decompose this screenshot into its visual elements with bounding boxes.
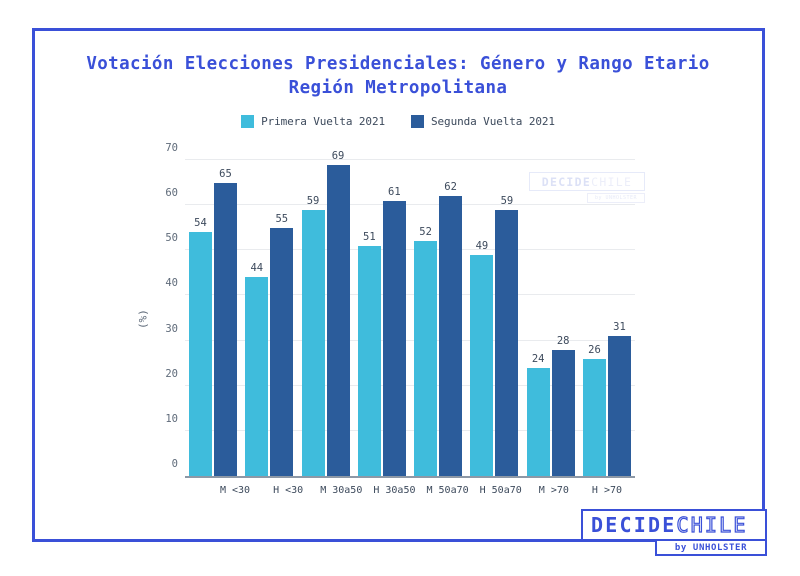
bar-chart: (%) 010203040506070 54654455596951615262… — [163, 160, 635, 478]
legend-label-primera: Primera Vuelta 2021 — [261, 115, 385, 128]
bar-group: 4959 — [470, 160, 518, 476]
bar-segunda-vuelta[interactable] — [270, 228, 293, 476]
bar-group: 5161 — [358, 160, 406, 476]
bar-column[interactable]: 54 — [189, 160, 212, 476]
x-axis-tick: M 30a50 — [317, 485, 365, 496]
x-axis-tick: M 50a70 — [424, 485, 472, 496]
logo-decide-text: DECIDE — [591, 513, 676, 537]
legend-item-primera: Primera Vuelta 2021 — [241, 115, 385, 128]
bar-value-label: 26 — [588, 344, 601, 356]
y-axis-tick: 0 — [172, 458, 178, 470]
x-axis-labels: M <30H <30M 30a50H 30a50M 50a70H 50a70M … — [207, 485, 635, 496]
bar-primera-vuelta[interactable] — [583, 359, 606, 476]
y-axis-tick: 70 — [165, 142, 178, 154]
bar-value-label: 52 — [419, 226, 432, 238]
bar-value-label: 28 — [557, 335, 570, 347]
y-axis-tick: 10 — [165, 413, 178, 425]
bar-primera-vuelta[interactable] — [302, 210, 325, 476]
decidechile-logo: DECIDECHILE by UNHOLSTER — [581, 509, 767, 556]
bar-segunda-vuelta[interactable] — [383, 201, 406, 476]
bar-column[interactable]: 62 — [439, 160, 462, 476]
bar-group: 4455 — [245, 160, 293, 476]
bar-segunda-vuelta[interactable] — [327, 165, 350, 476]
bar-segunda-vuelta[interactable] — [214, 183, 237, 476]
bar-group: 5465 — [189, 160, 237, 476]
bar-value-label: 59 — [501, 195, 514, 207]
logo-chile-text: CHILE — [676, 513, 747, 537]
x-axis-tick: H 30a50 — [370, 485, 418, 496]
bar-segunda-vuelta[interactable] — [495, 210, 518, 476]
x-axis-tick: M >70 — [530, 485, 578, 496]
bar-column[interactable]: 59 — [495, 160, 518, 476]
legend-swatch-primera — [241, 115, 254, 128]
legend-item-segunda: Segunda Vuelta 2021 — [411, 115, 555, 128]
bar-column[interactable]: 69 — [327, 160, 350, 476]
bar-value-label: 49 — [476, 240, 489, 252]
bar-value-label: 31 — [613, 321, 626, 333]
chart-poster: Votación Elecciones Presidenciales: Géne… — [0, 0, 800, 576]
bar-primera-vuelta[interactable] — [527, 368, 550, 476]
legend-swatch-segunda — [411, 115, 424, 128]
bar-primera-vuelta[interactable] — [414, 241, 437, 476]
logo-wordmark: DECIDECHILE — [581, 509, 767, 541]
x-axis-tick: M <30 — [211, 485, 259, 496]
y-axis-tick: 40 — [165, 277, 178, 289]
title-line-2: Región Metropolitana — [40, 76, 756, 100]
bar-value-label: 59 — [307, 195, 320, 207]
bar-value-label: 24 — [532, 353, 545, 365]
bar-segunda-vuelta[interactable] — [608, 336, 631, 476]
y-axis-tick: 30 — [165, 323, 178, 335]
title-line-1: Votación Elecciones Presidenciales: Géne… — [40, 52, 756, 76]
x-axis-tick: H 50a70 — [477, 485, 525, 496]
bar-column[interactable]: 52 — [414, 160, 437, 476]
y-axis-tick: 60 — [165, 187, 178, 199]
bar-primera-vuelta[interactable] — [358, 246, 381, 476]
bar-value-label: 51 — [363, 231, 376, 243]
bar-column[interactable]: 51 — [358, 160, 381, 476]
bar-value-label: 65 — [219, 168, 232, 180]
bar-value-label: 62 — [444, 181, 457, 193]
bar-column[interactable]: 24 — [527, 160, 550, 476]
bar-segunda-vuelta[interactable] — [439, 196, 462, 476]
bar-primera-vuelta[interactable] — [470, 255, 493, 476]
bar-column[interactable]: 44 — [245, 160, 268, 476]
bar-column[interactable]: 28 — [552, 160, 575, 476]
legend-label-segunda: Segunda Vuelta 2021 — [431, 115, 555, 128]
bar-groups: 54654455596951615262495924282631 — [185, 160, 635, 476]
logo-subtitle: by UNHOLSTER — [655, 539, 767, 556]
bar-primera-vuelta[interactable] — [189, 232, 212, 476]
chart-legend: Primera Vuelta 2021 Segunda Vuelta 2021 — [40, 115, 756, 128]
bar-group: 2428 — [527, 160, 575, 476]
y-axis-tick: 50 — [165, 232, 178, 244]
bar-column[interactable]: 26 — [583, 160, 606, 476]
page-title: Votación Elecciones Presidenciales: Géne… — [40, 52, 756, 100]
bar-value-label: 54 — [194, 217, 207, 229]
bar-group: 5262 — [414, 160, 462, 476]
y-axis-tick: 20 — [165, 368, 178, 380]
bar-column[interactable]: 31 — [608, 160, 631, 476]
bar-value-label: 61 — [388, 186, 401, 198]
bar-column[interactable]: 49 — [470, 160, 493, 476]
bar-group: 2631 — [583, 160, 631, 476]
bar-segunda-vuelta[interactable] — [552, 350, 575, 476]
bar-column[interactable]: 59 — [302, 160, 325, 476]
bar-value-label: 44 — [250, 262, 263, 274]
bar-value-label: 55 — [275, 213, 288, 225]
bar-group: 5969 — [302, 160, 350, 476]
bar-primera-vuelta[interactable] — [245, 277, 268, 476]
x-axis-tick: H >70 — [583, 485, 631, 496]
bar-value-label: 69 — [332, 150, 345, 162]
bar-column[interactable]: 65 — [214, 160, 237, 476]
plot-area: 010203040506070 546544555969516152624959… — [185, 160, 635, 478]
bar-column[interactable]: 61 — [383, 160, 406, 476]
x-axis-tick: H <30 — [264, 485, 312, 496]
y-axis-label: (%) — [137, 309, 150, 329]
bar-column[interactable]: 55 — [270, 160, 293, 476]
